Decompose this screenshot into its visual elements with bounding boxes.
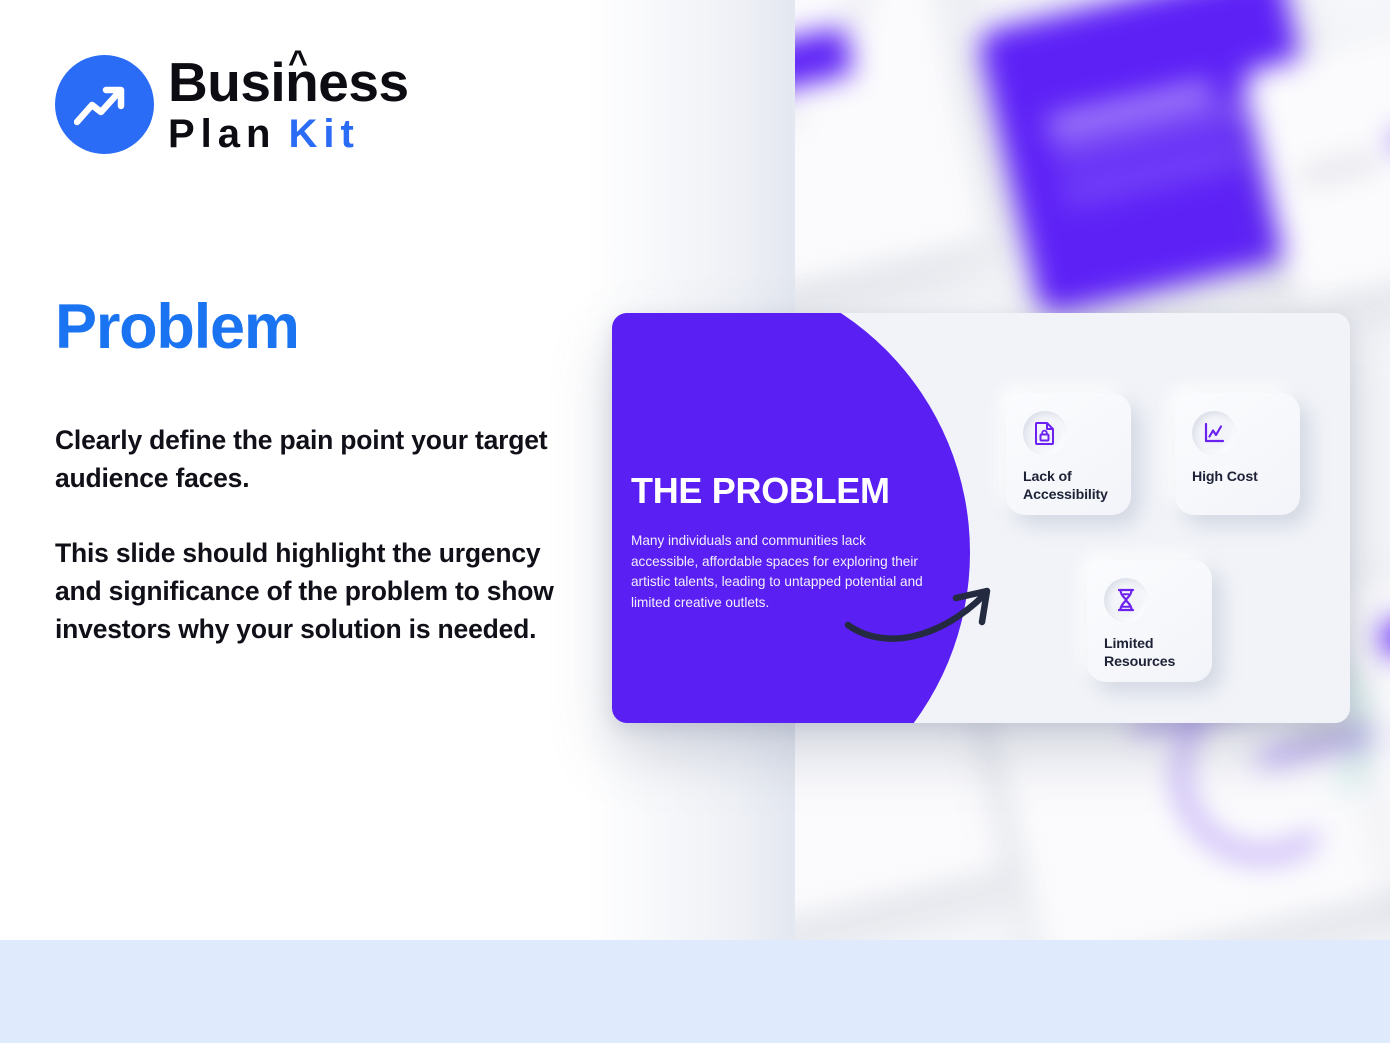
brand-name-plan-kit: PlanKit bbox=[168, 114, 409, 154]
slide-body-text: Many individuals and communities lack ac… bbox=[631, 531, 923, 614]
feature-tile-label: Lack of Accessibility bbox=[1023, 469, 1127, 505]
feature-tile-lack-of-accessibility[interactable]: Lack of Accessibility bbox=[1006, 393, 1131, 515]
line-chart-icon bbox=[1192, 411, 1236, 455]
brand-wordmark: Business ^ PlanKit bbox=[168, 55, 409, 154]
footer-band bbox=[0, 940, 1390, 1043]
purple-circle-shape bbox=[612, 313, 970, 723]
brand-name-kit: Kit bbox=[288, 112, 359, 156]
growth-arrow-circle-icon bbox=[55, 55, 154, 154]
feature-tile-limited-resources[interactable]: Limited Resources bbox=[1087, 560, 1212, 682]
problem-slide-card[interactable]: THE PROBLEM Many individuals and communi… bbox=[612, 313, 1350, 723]
brand-name-business: Business ^ bbox=[168, 55, 409, 110]
brand-circumflex-accent: ^ bbox=[288, 46, 307, 80]
brand-logo: Business ^ PlanKit bbox=[55, 55, 409, 154]
hourglass-icon bbox=[1104, 578, 1148, 622]
feature-tile-high-cost[interactable]: High Cost bbox=[1175, 393, 1300, 515]
feature-tile-label: High Cost bbox=[1192, 469, 1296, 487]
feature-tile-label: Limited Resources bbox=[1104, 636, 1208, 672]
brand-name-plan: Plan bbox=[168, 112, 276, 156]
slide-preview-page: Business ^ PlanKit Problem Clearly defin… bbox=[0, 0, 1390, 1043]
slide-heading: THE PROBLEM bbox=[631, 473, 890, 509]
intro-paragraph-2: This slide should highlight the urgency … bbox=[55, 534, 585, 648]
intro-paragraph-1: Clearly define the pain point your targe… bbox=[55, 421, 585, 497]
page-title: Problem bbox=[55, 296, 299, 359]
document-lock-icon bbox=[1023, 411, 1067, 455]
